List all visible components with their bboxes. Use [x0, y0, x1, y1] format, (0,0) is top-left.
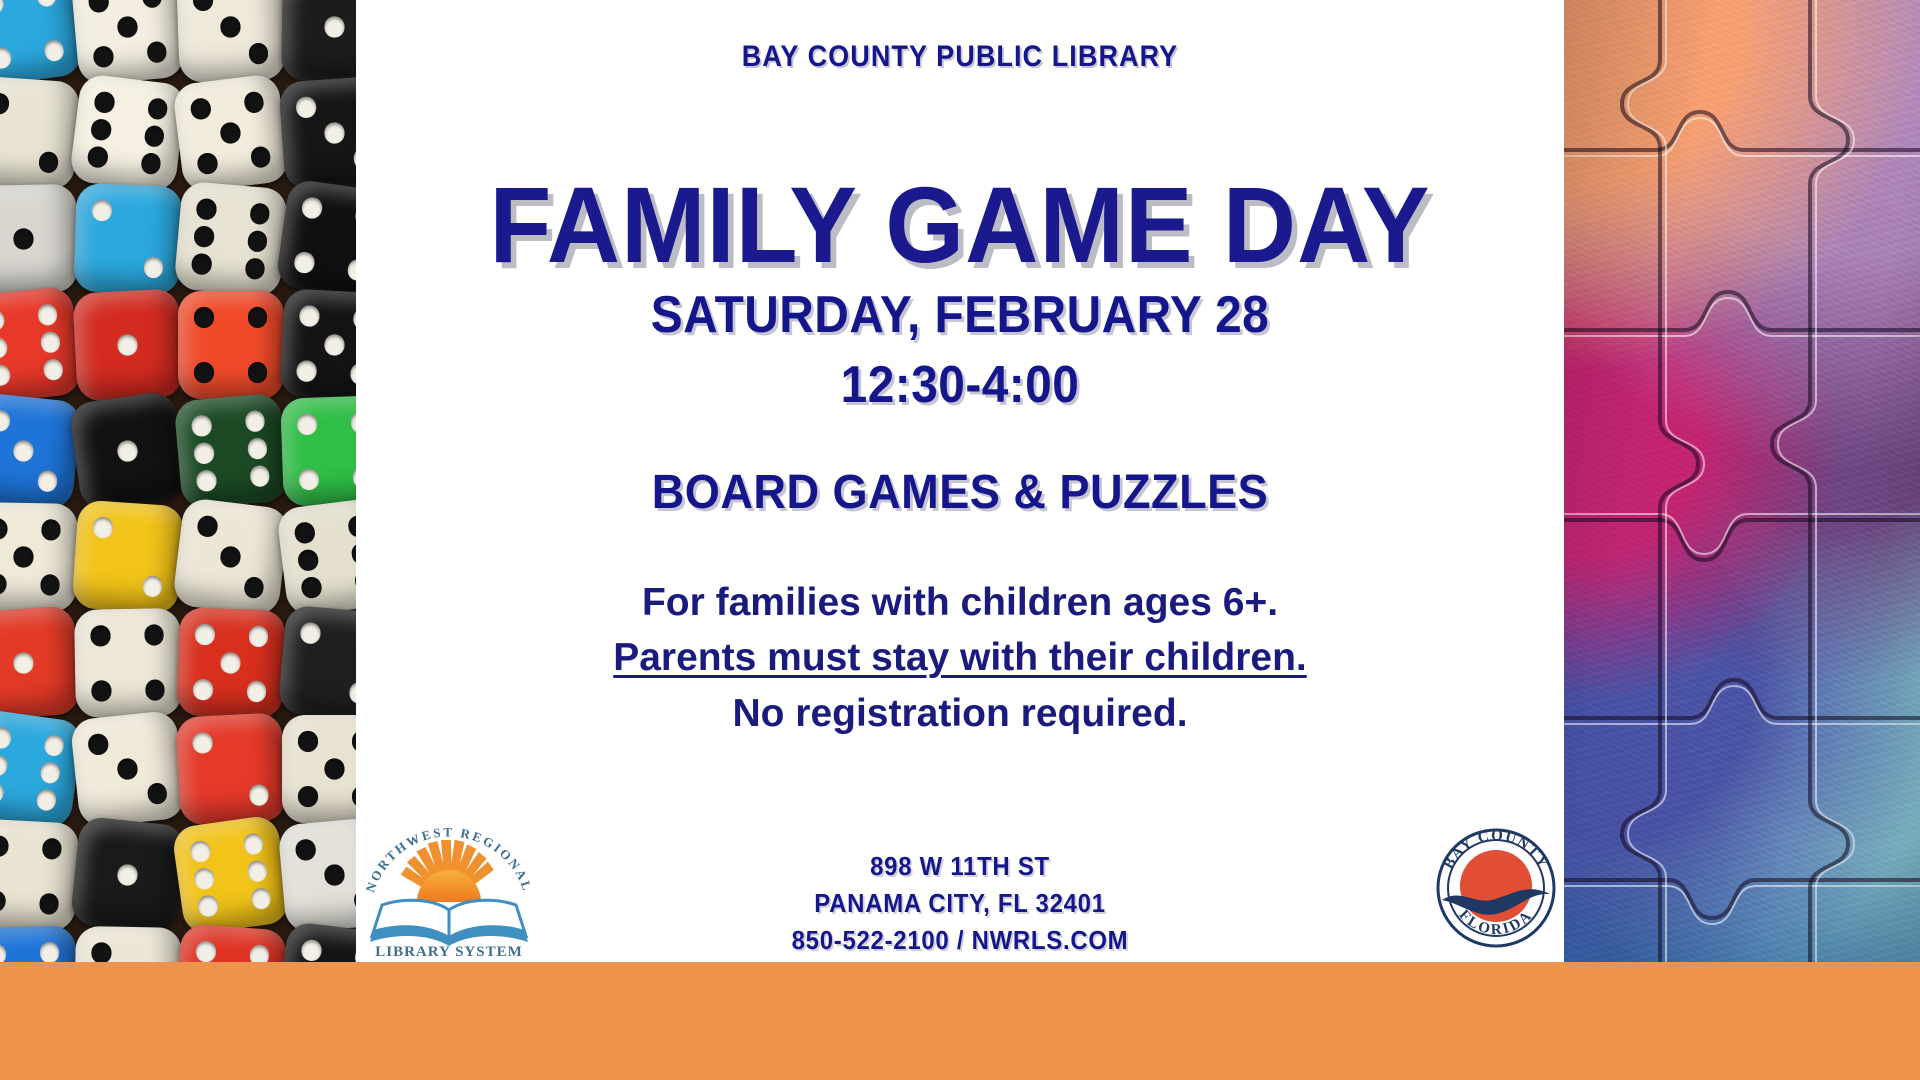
die-face-3 — [0, 392, 82, 511]
die-face-4 — [280, 395, 356, 507]
die-pip — [190, 98, 212, 121]
die-pip — [297, 549, 319, 572]
die-pip — [194, 362, 214, 382]
die-pip — [191, 253, 212, 275]
die-pip — [295, 97, 316, 119]
address-street: 898 W 11TH ST — [404, 848, 1515, 885]
organization-name: BAY COUNTY PUBLIC LIBRARY — [416, 40, 1503, 74]
die-pip — [144, 680, 164, 701]
die-pip — [242, 833, 264, 856]
die-pip — [139, 152, 161, 175]
die-pip — [145, 41, 166, 63]
bay-county-florida-seal: BAY COUNTY FLORIDA — [1434, 826, 1558, 950]
die-pip — [86, 146, 108, 169]
details-line-registration: No registration required. — [356, 686, 1564, 741]
die-face-1 — [72, 288, 183, 401]
die-pip — [298, 786, 318, 806]
die-pip — [197, 515, 219, 538]
die-pip — [143, 257, 163, 278]
die-pip — [196, 198, 217, 220]
die-face-3 — [176, 0, 285, 83]
die-pip — [0, 0, 5, 15]
die-pip — [197, 895, 219, 918]
die-pip — [91, 943, 111, 962]
die-face-2 — [74, 926, 181, 962]
details-line-audience: For families with children ages 6+. — [356, 575, 1564, 630]
die-pip — [248, 626, 268, 647]
die-face-4 — [0, 0, 83, 88]
die-pip — [300, 939, 322, 962]
die-pip — [41, 520, 61, 541]
die-face-1 — [0, 184, 77, 294]
die-pip — [324, 334, 345, 355]
die-pip — [91, 681, 111, 702]
die-face-6 — [0, 708, 83, 830]
die-pip — [146, 98, 168, 121]
die-face-5 — [172, 73, 290, 193]
die-pip — [13, 652, 34, 674]
address-block: 898 W 11TH ST PANAMA CITY, FL 32401 850-… — [404, 848, 1515, 959]
die-pip — [39, 761, 61, 784]
die-pip — [250, 887, 272, 910]
die-pip — [293, 522, 315, 545]
die-face-2 — [71, 499, 184, 614]
die-pip — [243, 576, 265, 599]
die-face-4 — [174, 923, 287, 962]
die-pip — [37, 304, 59, 326]
die-pip — [193, 867, 215, 890]
die-pip — [248, 784, 269, 805]
die-face-6 — [275, 921, 356, 962]
die-face-5 — [70, 0, 184, 85]
die-face-3 — [69, 710, 185, 829]
die-face-1 — [0, 605, 80, 720]
die-pip — [37, 470, 59, 492]
die-pip — [116, 864, 138, 886]
die-pip — [246, 681, 266, 702]
die-pip — [35, 0, 57, 7]
die-pip — [293, 251, 315, 274]
die-pip — [38, 151, 59, 173]
die-pip — [220, 546, 242, 569]
die-pip — [248, 43, 268, 64]
die-pip — [141, 575, 162, 597]
dice-grid — [0, 0, 356, 962]
northwest-regional-library-system-logo: NORTHWEST REGIONAL LIBRARY SYSTEM — [358, 806, 540, 958]
die-pip — [349, 363, 356, 384]
die-pip — [143, 125, 165, 148]
address-phone-website: 850-522-2100 / NWRLS.COM — [404, 922, 1515, 959]
die-pip — [92, 46, 113, 68]
die-pip — [0, 944, 6, 962]
die-pip — [0, 93, 10, 115]
die-pip — [195, 624, 215, 645]
die-pip — [324, 122, 345, 144]
die-face-2 — [175, 712, 286, 825]
die-pip — [295, 839, 316, 861]
die-face-3 — [277, 817, 356, 934]
die-pip — [244, 410, 265, 432]
die-pip — [299, 305, 320, 326]
die-pip — [189, 840, 211, 863]
die-pip — [0, 309, 5, 331]
die-pip — [39, 893, 60, 914]
die-pip — [93, 91, 115, 114]
die-face-1 — [69, 816, 185, 935]
dice-photo-panel — [0, 0, 356, 962]
event-date: SATURDAY, FEBRUARY 28 — [404, 285, 1515, 345]
die-face-4 — [178, 291, 283, 399]
die-pip — [246, 860, 268, 883]
die-pip — [0, 781, 5, 804]
die-pip — [346, 515, 356, 538]
bottom-accent-bar — [0, 962, 1920, 1080]
die-pip — [299, 622, 320, 644]
die-face-2 — [0, 75, 80, 190]
die-pip — [250, 146, 272, 169]
die-face-4 — [275, 178, 356, 300]
die-face-3 — [172, 497, 290, 617]
die-pip — [247, 438, 268, 460]
event-time: 12:30-4:00 — [404, 355, 1515, 415]
die-face-6 — [174, 393, 288, 510]
die-pip — [193, 226, 214, 248]
die-pip — [195, 941, 216, 962]
die-face-1 — [68, 390, 187, 512]
die-pip — [346, 259, 356, 282]
die-pip — [92, 517, 113, 539]
die-pip — [248, 307, 268, 327]
die-pip — [249, 203, 270, 225]
die-pip — [196, 470, 217, 492]
die-pip — [0, 410, 11, 432]
die-pip — [42, 358, 64, 380]
die-pip — [193, 442, 214, 464]
die-pip — [39, 331, 61, 353]
die-pip — [0, 835, 9, 856]
die-pip — [221, 652, 241, 673]
die-pip — [88, 0, 109, 13]
die-pip — [244, 258, 265, 280]
die-pip — [300, 576, 322, 599]
die-pip — [348, 682, 356, 704]
die-pip — [0, 574, 7, 595]
die-pip — [193, 679, 213, 700]
die-face-6 — [174, 181, 288, 298]
die-pip — [192, 732, 213, 753]
die-pip — [0, 337, 8, 359]
puzzle-vignette — [1564, 0, 1920, 962]
die-pip — [0, 890, 6, 911]
die-pip — [193, 0, 213, 11]
die-pip — [194, 307, 214, 327]
die-pip — [197, 152, 219, 175]
die-pip — [300, 197, 322, 220]
die-pip — [248, 362, 268, 382]
die-face-5 — [176, 607, 285, 719]
die-pip — [117, 334, 138, 355]
die-pip — [117, 16, 138, 38]
die-pip — [43, 39, 65, 62]
die-pip — [324, 759, 344, 779]
die-pip — [35, 789, 57, 812]
die-face-6 — [171, 814, 290, 936]
die-face-6 — [0, 286, 82, 405]
die-face-5 — [0, 925, 78, 962]
die-pip — [324, 864, 345, 886]
die-pip — [0, 519, 8, 540]
address-city-state-zip: PANAMA CITY, FL 32401 — [404, 885, 1515, 922]
die-face-6 — [275, 497, 356, 617]
die-pip — [249, 465, 270, 487]
die-pip — [43, 734, 65, 757]
die-pip — [143, 625, 163, 646]
die-pip — [87, 733, 109, 755]
die-pip — [0, 727, 12, 750]
die-pip — [298, 731, 318, 751]
flyer-canvas: BAY COUNTY PUBLIC LIBRARY FAMILY GAME DA… — [0, 0, 1920, 1080]
die-pip — [90, 118, 112, 141]
die-face-4 — [0, 818, 79, 931]
die-pip — [116, 758, 138, 780]
die-pip — [39, 942, 59, 962]
die-pip — [91, 200, 111, 221]
die-face-5 — [279, 288, 356, 401]
die-pip — [243, 91, 265, 114]
die-pip — [14, 547, 34, 568]
open-book-icon — [370, 900, 528, 946]
die-pip — [14, 229, 34, 250]
die-face-6 — [68, 73, 186, 193]
die-pip — [247, 230, 268, 252]
flyer-content: BAY COUNTY PUBLIC LIBRARY FAMILY GAME DA… — [356, 0, 1564, 962]
nwrls-bottom-text: LIBRARY SYSTEM — [375, 944, 523, 958]
die-face-5 — [0, 502, 77, 612]
die-face-4 — [74, 608, 181, 718]
die-pip — [13, 440, 35, 462]
die-pip — [220, 122, 242, 145]
die-pip — [146, 782, 168, 804]
die-pip — [298, 469, 318, 490]
die-face-3 — [278, 75, 356, 190]
die-pip — [116, 440, 138, 463]
die-pip — [296, 360, 317, 381]
die-pip — [0, 364, 11, 386]
puzzle-photo-panel — [1564, 0, 1920, 962]
die-pip — [0, 47, 12, 70]
die-pip — [141, 0, 162, 8]
die-pip — [0, 754, 9, 777]
die-pip — [296, 414, 316, 435]
die-pip — [41, 838, 62, 859]
die-pip — [324, 17, 344, 38]
die-pip — [40, 575, 60, 596]
details-line-supervision: Parents must stay with their children. — [356, 630, 1564, 685]
die-pip — [249, 945, 270, 962]
die-face-5 — [282, 715, 356, 823]
die-pip — [221, 16, 241, 37]
die-pip — [191, 415, 212, 437]
event-title: FAMILY GAME DAY — [392, 168, 1528, 281]
die-face-2 — [277, 605, 356, 722]
event-details: For families with children ages 6+. Pare… — [356, 575, 1564, 741]
die-face-2 — [73, 183, 182, 295]
die-pip — [90, 626, 110, 647]
event-activities: BOARD GAMES & PUZZLES — [392, 465, 1528, 520]
die-face-1 — [281, 0, 356, 82]
